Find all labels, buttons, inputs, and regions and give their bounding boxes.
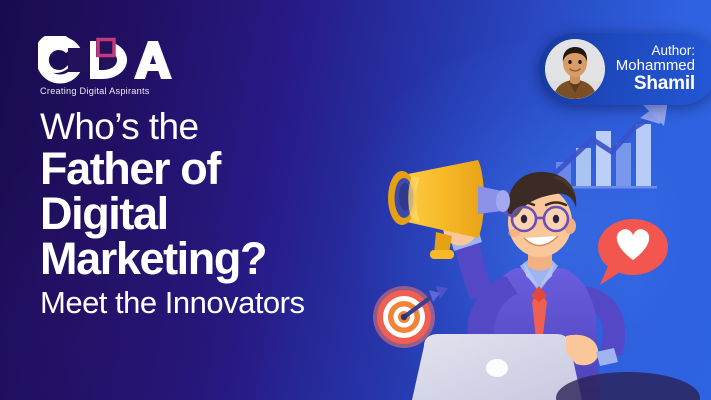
laptop-icon — [412, 334, 582, 400]
glasses-icon — [502, 207, 568, 231]
headline-line-2: Father of — [40, 146, 440, 191]
logo-tagline: Creating Digital Aspirants — [40, 86, 203, 96]
growth-chart-icon — [552, 100, 668, 189]
author-last-name: Shamil — [616, 74, 695, 94]
author-photo — [545, 39, 605, 99]
hand-on-laptop — [566, 335, 618, 366]
author-first-name: Mohammed — [616, 58, 695, 74]
headline-line-1: Who’s the — [40, 108, 440, 146]
author-label: Author: — [616, 44, 695, 58]
headline-line-4: Marketing? — [40, 236, 440, 281]
presenter-character — [443, 172, 625, 400]
headline-block: Who’s the Father of Digital Marketing? M… — [40, 108, 440, 321]
author-badge[interactable]: Author: Mohammed Shamil — [539, 33, 711, 105]
brand-logo[interactable]: Creating Digital Aspirants — [38, 36, 203, 96]
heart-speech-bubble-icon — [598, 219, 668, 285]
headline-line-3: Digital — [40, 191, 440, 236]
thumbnail-banner: Creating Digital Aspirants Who’s the Fat… — [0, 0, 711, 400]
logo-mark-cda — [38, 36, 203, 84]
avatar — [545, 39, 605, 99]
author-text-block: Author: Mohammed Shamil — [616, 44, 699, 94]
headline-subtitle: Meet the Innovators — [40, 286, 440, 320]
